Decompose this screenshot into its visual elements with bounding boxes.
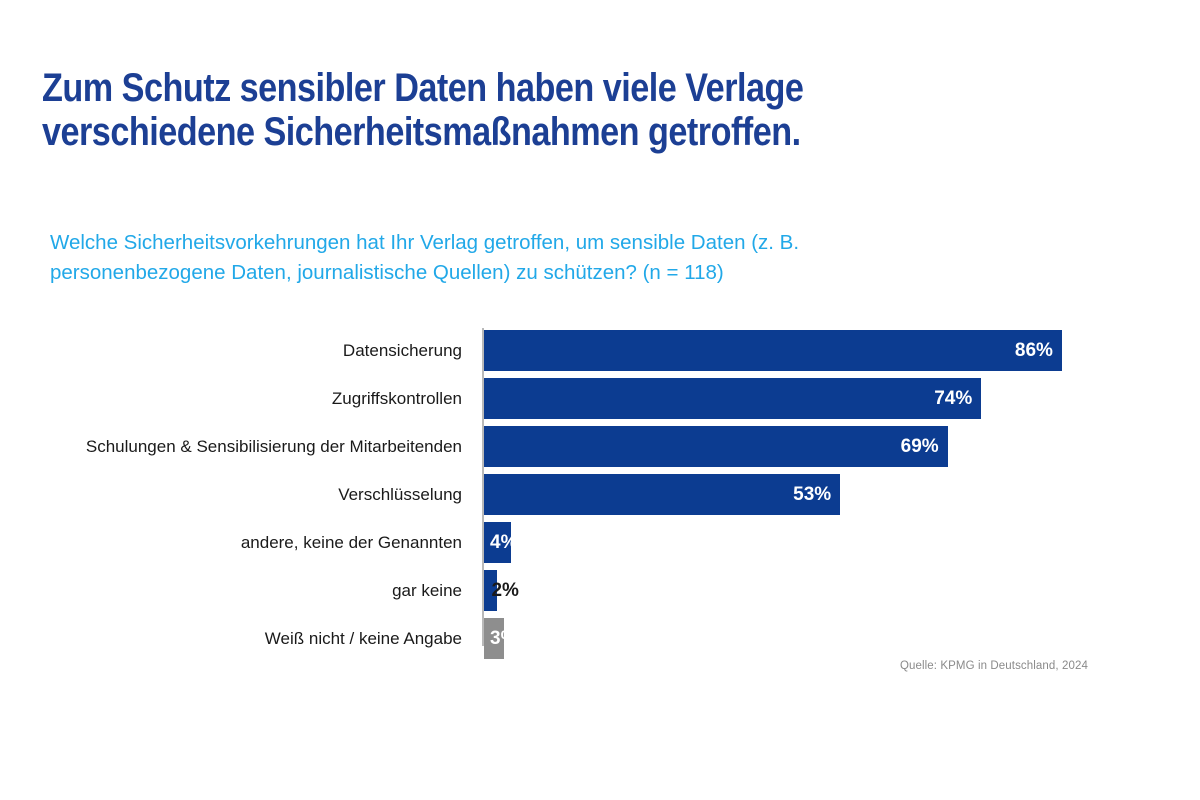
category-label: Zugriffskontrollen — [0, 378, 470, 419]
bar-value-label: 53% — [793, 484, 840, 506]
slide-footer: KPMG © 2024 KPMG AG Wirtschaftsprüfungsg… — [0, 690, 1200, 750]
bar-wrapper: 3% — [484, 618, 504, 659]
chart-bar[interactable]: 69% — [484, 426, 948, 467]
category-label: Verschlüsselung — [0, 474, 470, 515]
slide-subtitle: Welche Sicherheitsvorkehrungen hat Ihr V… — [50, 228, 930, 288]
chart-row: Datensicherung86% — [0, 330, 1200, 371]
chart-bar[interactable]: 74% — [484, 378, 981, 419]
bar-wrapper — [484, 570, 497, 611]
bar-value-label: 3% — [490, 618, 504, 659]
bar-wrapper: 69% — [484, 426, 948, 467]
chart-row: Weiß nicht / keine Angabe3% — [0, 618, 1200, 659]
bar-value-label: 69% — [901, 436, 948, 458]
bar-value-label: 4% — [490, 522, 511, 563]
source-note: Quelle: KPMG in Deutschland, 2024 — [900, 660, 1088, 672]
chart-bar[interactable] — [484, 570, 497, 611]
category-label: Datensicherung — [0, 330, 470, 371]
chart-row: Verschlüsselung53% — [0, 474, 1200, 515]
bar-chart: Datensicherung86%Zugriffskontrollen74%Sc… — [0, 322, 1200, 652]
bar-wrapper: 4% — [484, 522, 511, 563]
bar-value-label: 86% — [1015, 340, 1062, 362]
bar-wrapper: 53% — [484, 474, 840, 515]
page-title: Zum Schutz sensibler Daten haben viele V… — [42, 66, 1000, 154]
bar-wrapper: 74% — [484, 378, 981, 419]
chart-bar[interactable]: 4% — [484, 522, 511, 563]
category-label: gar keine — [0, 570, 470, 611]
chart-bar[interactable]: 86% — [484, 330, 1062, 371]
slide: Zum Schutz sensibler Daten haben viele V… — [0, 0, 1200, 800]
chart-row: andere, keine der Genannten4% — [0, 522, 1200, 563]
bar-value-label: 74% — [934, 388, 981, 410]
chart-bar[interactable]: 53% — [484, 474, 840, 515]
chart-row: Zugriffskontrollen74% — [0, 378, 1200, 419]
chart-row: gar keine2% — [0, 570, 1200, 611]
bar-wrapper: 86% — [484, 330, 1062, 371]
chart-bar[interactable]: 3% — [484, 618, 504, 659]
category-label: Weiß nicht / keine Angabe — [0, 618, 470, 659]
category-label: andere, keine der Genannten — [0, 522, 470, 563]
chart-row: Schulungen & Sensibilisierung der Mitarb… — [0, 426, 1200, 467]
category-label: Schulungen & Sensibilisierung der Mitarb… — [0, 426, 470, 467]
